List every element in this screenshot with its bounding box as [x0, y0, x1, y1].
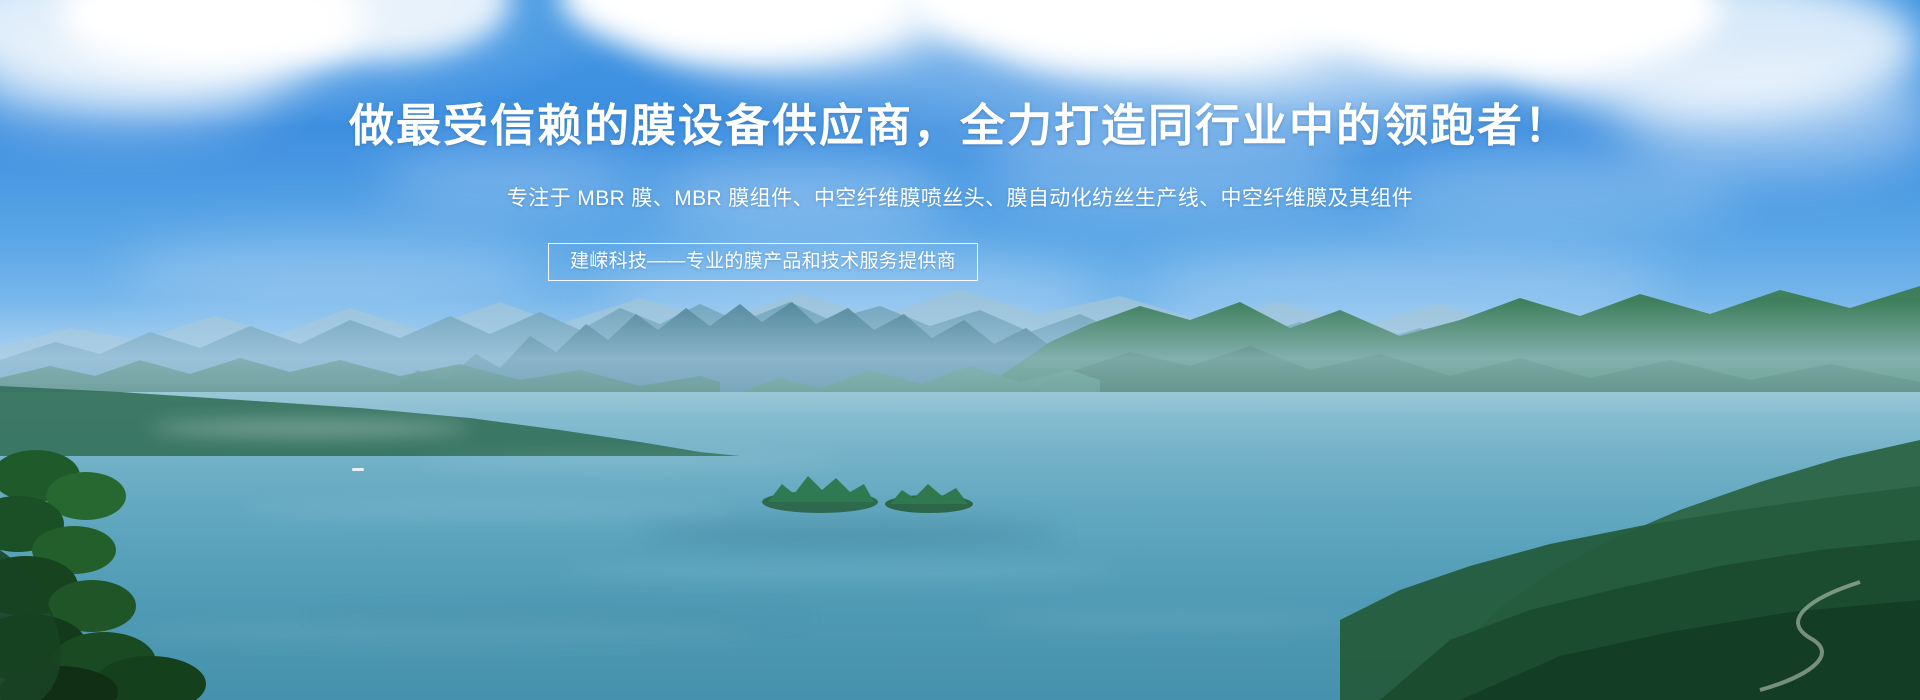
banner-tagline-box: 建嵘科技——专业的膜产品和技术服务提供商 [548, 243, 978, 281]
banner-subtitle: 专注于 MBR 膜、MBR 膜组件、中空纤维膜喷丝头、膜自动化纺丝生产线、中空纤… [0, 184, 1920, 214]
banner-headline: 做最受信赖的膜设备供应商，全力打造同行业中的领跑者！ [0, 100, 1920, 152]
hero-banner: 做最受信赖的膜设备供应商，全力打造同行业中的领跑者！ 专注于 MBR 膜、MBR… [0, 0, 1920, 700]
banner-text-block: 做最受信赖的膜设备供应商，全力打造同行业中的领跑者！ 专注于 MBR 膜、MBR… [0, 0, 1920, 700]
banner-tagline-text: 建嵘科技——专业的膜产品和技术服务提供商 [570, 251, 956, 273]
